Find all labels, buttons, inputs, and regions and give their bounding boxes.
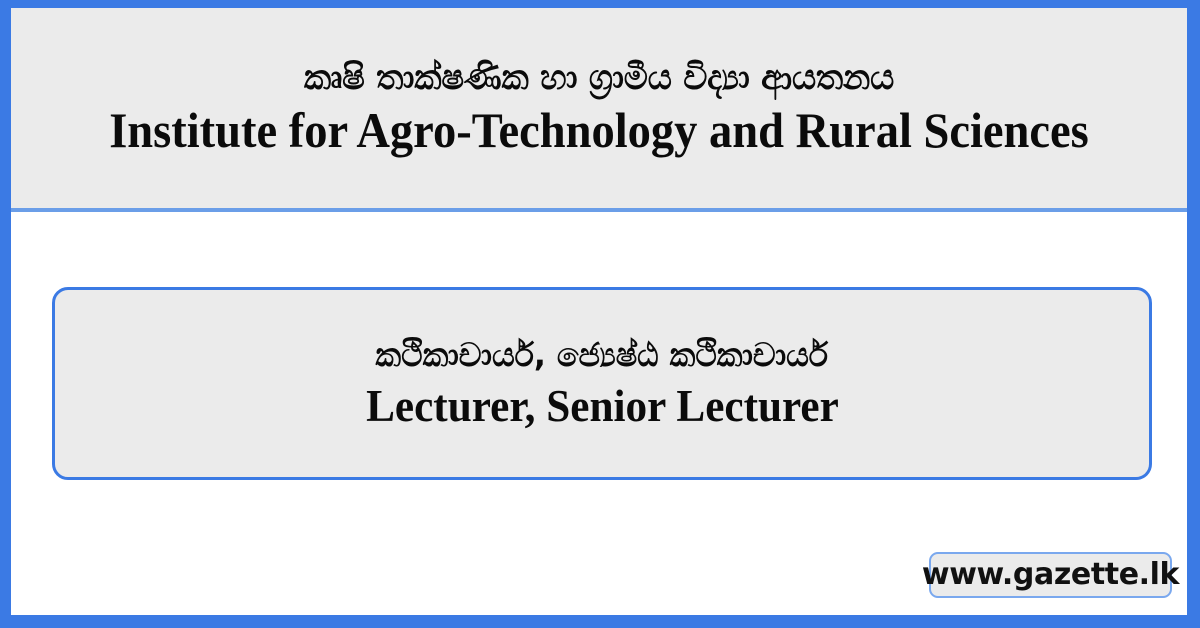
position-title-sinhala: කථිකාචාර්ය, ජ්‍යෙෂ්ඨ කථිකාචාර්ය: [376, 337, 829, 373]
header-divider: [11, 208, 1187, 212]
position-title-box: කථිකාචාර්ය, ජ්‍යෙෂ්ඨ කථිකාචාර්ය Lecturer…: [52, 287, 1152, 480]
website-url-label: www.gazette.lk: [922, 560, 1179, 590]
institute-name-sinhala: කෘෂි තාක්ෂණික හා ග්‍රාමීය විද්‍යා ආයතනය: [35, 60, 1164, 98]
website-watermark-badge[interactable]: www.gazette.lk: [929, 552, 1172, 598]
institute-header-band: කෘෂි තාක්ෂණික හා ග්‍රාමීය විද්‍යා ආයතනය …: [11, 8, 1187, 208]
institute-name-english: Institute for Agro-Technology and Rural …: [52, 104, 1146, 157]
position-title-english: Lecturer, Senior Lecturer: [366, 382, 839, 430]
vacancy-poster: කෘෂි තාක්ෂණික හා ග්‍රාමීය විද්‍යා ආයතනය …: [0, 0, 1200, 628]
